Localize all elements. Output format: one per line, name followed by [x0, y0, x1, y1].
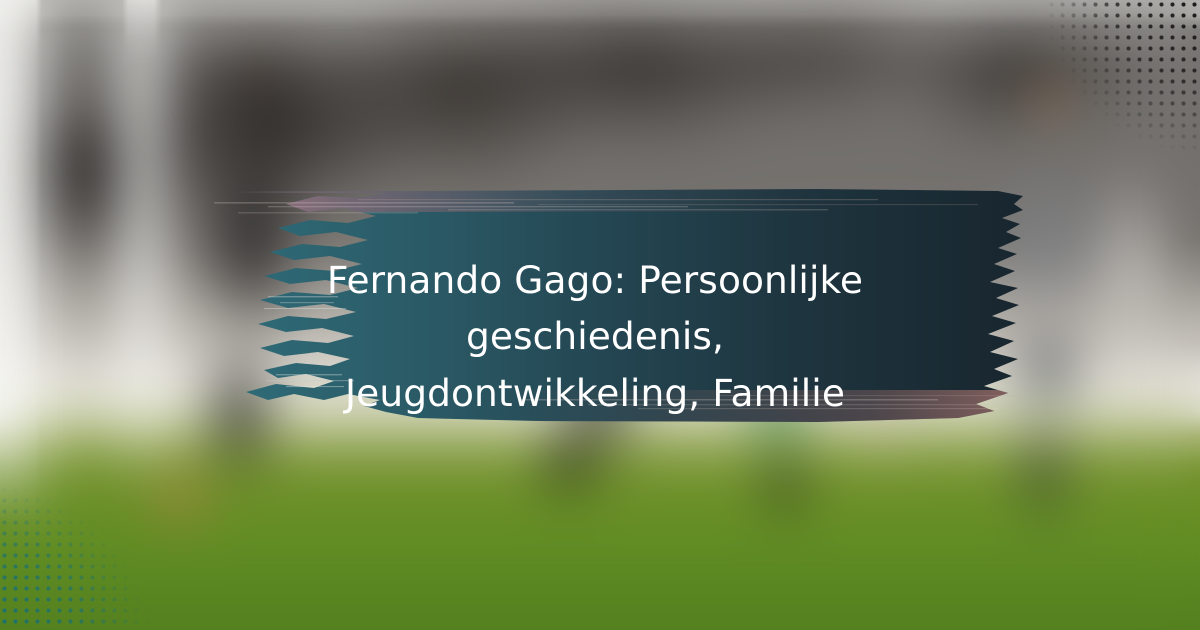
brush-body: [118, 178, 1070, 428]
social-share-card: Fernando Gago: Persoonlijke geschiedenis…: [0, 0, 1200, 630]
brush-stroke-shape: [118, 178, 1070, 428]
brush-stroke-banner: [118, 178, 1070, 428]
